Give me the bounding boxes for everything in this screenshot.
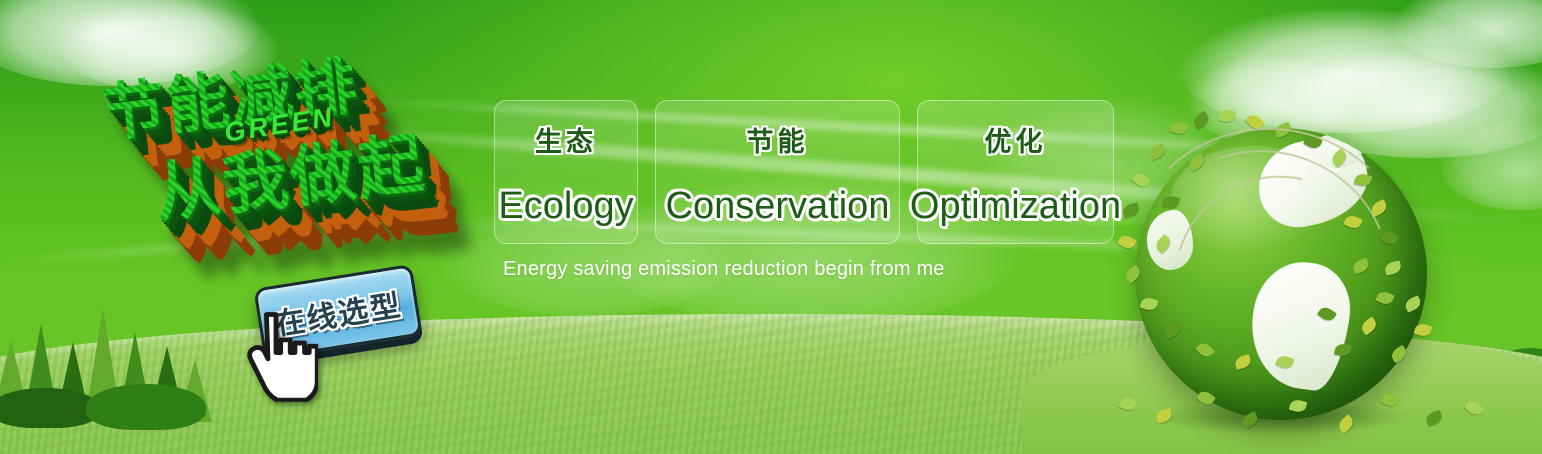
feature-card-en-label: Ecology	[498, 185, 633, 228]
feature-card-en-label: Optimization	[910, 185, 1121, 228]
headline-line-1: 节能减排	[98, 35, 363, 153]
light-streak	[0, 216, 559, 265]
globe-sphere	[1135, 128, 1427, 420]
feature-card-cn-label: 节能	[747, 120, 809, 159]
globe-highlight	[1170, 146, 1339, 257]
headline-accent: GREEN	[222, 102, 336, 149]
eco-hero-banner: 节能减排 GREEN 从我做起 在线选型 生态 Ecology 节能 Conse…	[0, 0, 1542, 454]
headline-line-2: 从我做起	[149, 110, 430, 236]
feature-card-conservation[interactable]: 节能 Conservation	[655, 100, 900, 244]
continent-south-america	[1243, 256, 1356, 394]
cloud-icon	[1440, 120, 1542, 210]
feature-card-ecology[interactable]: 生态 Ecology	[494, 100, 638, 244]
feature-card-list: 生态 Ecology 节能 Conservation 优化 Optimizati…	[494, 100, 1114, 244]
leafy-globe-icon	[1135, 128, 1427, 420]
banner-tagline: Energy saving emission reduction begin f…	[503, 258, 945, 281]
fallen-leaves	[1110, 380, 1510, 440]
feature-card-en-label: Conservation	[666, 185, 890, 228]
cloud-icon	[1392, 0, 1542, 68]
cloud-icon	[1180, 8, 1510, 133]
conifer-trees	[0, 304, 250, 414]
feature-card-optimization[interactable]: 优化 Optimization	[917, 100, 1114, 244]
cloud-icon	[60, 2, 280, 92]
cloud-icon	[0, 0, 260, 86]
headline-art: 节能减排 GREEN 从我做起	[83, 12, 509, 306]
hand-pointer-icon	[240, 310, 318, 402]
feature-card-cn-label: 生态	[535, 120, 597, 159]
feature-card-cn-label: 优化	[985, 120, 1047, 159]
continent-arctic	[1310, 134, 1362, 168]
